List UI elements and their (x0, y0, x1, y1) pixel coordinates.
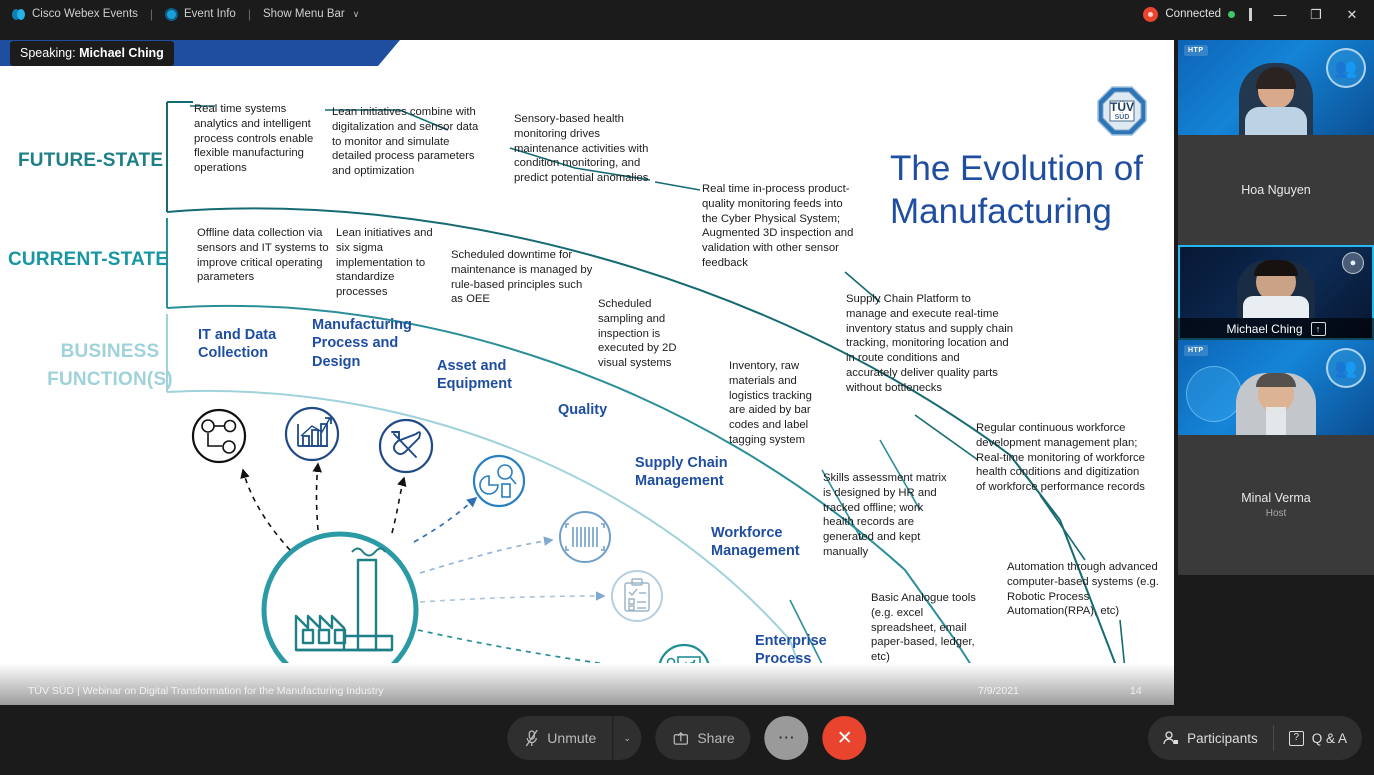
primary-controls-group: Unmute ⌄ Share ⋯ ✕ (507, 716, 866, 760)
participant-name: Hoa Nguyen (1241, 183, 1311, 197)
note-current-7: Basic Analogue tools (e.g. excel spreads… (871, 591, 977, 665)
note-current-4: Scheduled sampling and inspection is exe… (598, 297, 698, 371)
mute-control-group[interactable]: Unmute ⌄ (507, 716, 641, 760)
panel-toggles: Participants ? Q & A (1148, 716, 1362, 760)
microphone-muted-icon (525, 730, 538, 747)
category-supply-chain-management: Supply Chain Management (635, 454, 755, 491)
signal-bar-icon (1249, 8, 1252, 21)
webex-window: Cisco Webex Events | Event Info | Show M… (0, 0, 1374, 775)
meeting-controls-bar: Unmute ⌄ Share ⋯ ✕ (0, 705, 1374, 775)
cat-2-line-1: Equipment (437, 376, 512, 392)
note-current-5: Inventory, raw materials and logistics t… (729, 359, 813, 448)
share-label: Share (697, 730, 734, 746)
slide-footer: TÜV SÜD | Webinar on Digital Transformat… (0, 663, 1174, 705)
share-button[interactable]: Share (655, 716, 750, 760)
event-info-button[interactable]: Event Info (161, 6, 240, 23)
connected-label: Connected (1165, 8, 1221, 20)
slide-footer-text: TÜV SÜD | Webinar on Digital Transformat… (28, 685, 384, 697)
app-name-item[interactable]: Cisco Webex Events (8, 6, 142, 22)
tuv-logo-text-top: TÜV (1108, 101, 1136, 113)
leave-meeting-button[interactable]: ✕ (823, 716, 867, 760)
connection-quality-dot-icon (1228, 11, 1235, 18)
question-answer-icon: ? (1289, 731, 1304, 746)
speaking-prefix: Speaking: (20, 46, 76, 60)
titlebar-separator-2: | (246, 7, 253, 21)
slide-title: The Evolution of Manufacturing (890, 148, 1170, 233)
cat-1-line-1: Process and (312, 335, 398, 351)
category-workforce-management: Workforce Management (711, 524, 831, 561)
app-name-label: Cisco Webex Events (32, 8, 138, 20)
participants-label: Participants (1187, 731, 1258, 746)
slide-title-line-1: The Evolution of (890, 148, 1170, 191)
cat-0-line-1: Collection (198, 345, 268, 361)
maximize-button[interactable]: ❐ (1298, 1, 1334, 27)
minimize-button[interactable]: — (1262, 1, 1298, 27)
participants-icon (1163, 731, 1179, 745)
video-name-bar: Michael Ching ↑ (1178, 318, 1374, 340)
slide-footer-page-number: 14 (1130, 685, 1142, 697)
note-current-6: Skills assessment matrix is designed by … (823, 471, 955, 560)
window-titlebar: Cisco Webex Events | Event Info | Show M… (0, 0, 1374, 28)
speaking-indicator: Speaking: Michael Ching (10, 41, 174, 66)
row-label-business-function: BUSINESS FUNCTION(S) (30, 338, 190, 393)
unmute-label: Unmute (547, 730, 596, 746)
video-tile-hoa-nguyen[interactable]: HTP 👥 (1178, 40, 1374, 135)
show-menu-bar-button[interactable]: Show Menu Bar ∨ (259, 6, 363, 22)
row-label-future-state: FUTURE-STATE (18, 150, 163, 172)
share-screen-icon (673, 731, 688, 746)
mute-options-caret-icon[interactable]: ⌄ (613, 733, 641, 744)
slide-footer-date: 7/9/2021 (978, 685, 1019, 697)
participants-button[interactable]: Participants (1148, 716, 1273, 760)
note-future-3: Sensory-based health monitoring drives m… (514, 112, 652, 186)
video-tile-michael-ching[interactable]: ● Michael Ching ↑ (1178, 245, 1374, 340)
titlebar-right-group: Connected — ❐ ✕ (1143, 1, 1374, 27)
cat-1-line-2: Design (312, 354, 360, 370)
participant-video-rail[interactable]: HTP 👥 Hoa Nguyen ● Michael Ching ↑ (1178, 40, 1374, 705)
participant-silhouette (1236, 373, 1316, 435)
note-current-3: Scheduled downtime for maintenance is ma… (451, 248, 597, 307)
presentation-slide: FUTURE-STATE CURRENT-STATE BUSINESS FUNC… (0, 40, 1174, 705)
note-future-5: Supply Chain Platform to manage and exec… (846, 292, 1014, 396)
titlebar-separator-1: | (148, 7, 155, 21)
note-future-1: Real time systems analytics and intellig… (194, 102, 319, 176)
participant-silhouette (1239, 63, 1313, 135)
network-graphic-icon (1186, 366, 1242, 422)
titlebar-left-group: Cisco Webex Events | Event Info | Show M… (0, 6, 363, 23)
cat-1-line-0: Manufacturing (312, 317, 412, 333)
qa-label: Q & A (1312, 731, 1347, 746)
category-manufacturing-process-and-design: Manufacturing Process and Design (312, 316, 432, 371)
note-current-2: Lean initiatives and six sigma implement… (336, 226, 444, 300)
cat-6-line-0: Enterprise (755, 633, 827, 649)
tuv-logo-text-bottom: SÜD (1108, 114, 1136, 121)
cat-0-line-0: IT and Data (198, 327, 276, 343)
people-network-icon: 👥 (1326, 48, 1366, 88)
event-info-label: Event Info (184, 8, 236, 20)
row-label-current-state: CURRENT-STATE (8, 249, 168, 271)
video-tile-minal-verma[interactable]: HTP 👥 (1178, 340, 1374, 435)
cat-4-line-1: Management (635, 473, 724, 489)
cat-5-line-1: Management (711, 543, 800, 559)
webex-logo-icon (12, 9, 26, 20)
note-current-1: Offline data collection via sensors and … (197, 226, 332, 285)
unmute-button[interactable]: Unmute (507, 730, 612, 747)
note-future-4: Real time in-process product-quality mon… (702, 182, 857, 271)
participant-silhouette (1237, 260, 1315, 318)
category-it-and-data-collection: IT and Data Collection (198, 326, 308, 363)
secondary-controls-group: Participants ? Q & A (1148, 716, 1362, 760)
avatar-tile-hoa-nguyen[interactable]: Hoa Nguyen (1178, 135, 1374, 245)
recording-icon (1143, 7, 1158, 22)
connection-status[interactable]: Connected (1143, 7, 1235, 22)
people-network-icon: 👥 (1326, 348, 1366, 388)
screen-share-icon: ↑ (1311, 322, 1326, 336)
business-line-1: BUSINESS (61, 341, 160, 362)
slide-title-line-2: Manufacturing (890, 191, 1170, 234)
qa-button[interactable]: ? Q & A (1274, 716, 1362, 760)
note-future-2: Lean initiatives combine with digitaliza… (332, 105, 482, 179)
note-future-7: Automation through advanced computer-bas… (1007, 560, 1174, 619)
close-button[interactable]: ✕ (1334, 1, 1370, 27)
htp-logo-icon: HTP (1184, 45, 1208, 56)
business-line-2: FUNCTION(S) (47, 369, 173, 390)
participant-name: Michael Ching (1226, 322, 1302, 336)
tuv-sud-logo-icon: TÜV SÜD (1098, 87, 1146, 137)
speaking-name: Michael Ching (79, 46, 164, 60)
event-info-icon (165, 8, 178, 21)
avatar-tile-minal-verma[interactable]: Minal Verma Host (1178, 435, 1374, 575)
more-options-button[interactable]: ⋯ (765, 716, 809, 760)
participant-role: Host (1266, 508, 1287, 519)
chevron-down-icon: ∨ (353, 9, 360, 20)
cat-5-line-0: Workforce (711, 525, 782, 541)
htp-logo-icon: HTP (1184, 345, 1208, 356)
participant-name: Minal Verma (1241, 491, 1310, 505)
cat-4-line-0: Supply Chain (635, 455, 728, 471)
show-menu-bar-label: Show Menu Bar (263, 8, 345, 20)
category-asset-and-equipment: Asset and Equipment (437, 357, 547, 394)
shared-content-stage[interactable]: FUTURE-STATE CURRENT-STATE BUSINESS FUNC… (0, 40, 1174, 705)
note-future-6: Regular continuous workforce development… (976, 421, 1146, 495)
participant-status-icon: ● (1342, 252, 1364, 274)
category-quality: Quality (558, 401, 658, 419)
cat-2-line-0: Asset and (437, 358, 506, 374)
